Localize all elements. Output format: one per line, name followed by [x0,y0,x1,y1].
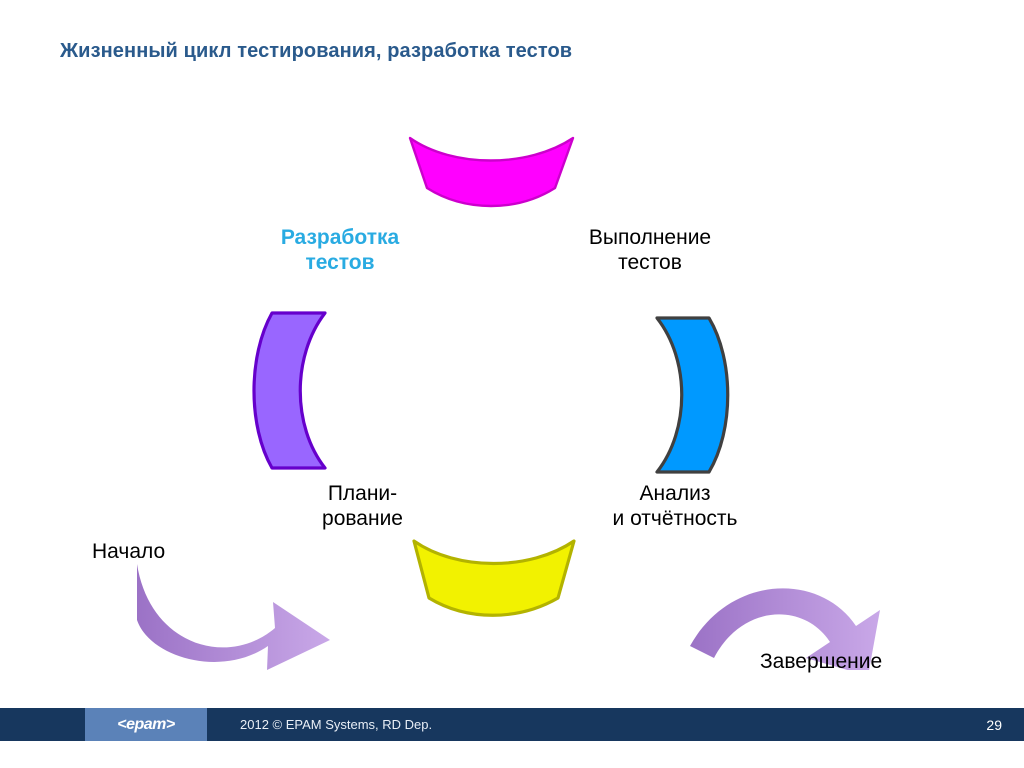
cycle-label-start: Начало [60,540,250,565]
slide-footer: <epam> 2012 © EPAM Systems, RD Dep. 29 [0,700,1024,768]
cycle-diagram-graphics [0,90,1024,670]
cycle-segment-analysis-shape [657,318,728,472]
cycle-segment-test-design-shape [254,313,325,468]
cycle-label-analysis-reporting: Анализ и отчётность [575,482,775,531]
cycle-segment-planning-shape [414,541,574,615]
footer-copyright: 2012 © EPAM Systems, RD Dep. [240,708,432,741]
cycle-label-planning: Плани- рование [270,482,455,531]
start-arrow-shape [137,564,330,670]
page-number: 29 [986,708,1002,741]
cycle-label-test-design: Разработка тестов [240,226,440,275]
cycle-label-finish: Завершение [760,650,990,675]
cycle-label-test-execution: Выполнение тестов [545,226,755,275]
epam-logo-text: <epam> [117,716,174,734]
slide-canvas: Жизненный цикл тестирования, разработка … [0,0,1024,768]
page-title: Жизненный цикл тестирования, разработка … [60,40,960,63]
cycle-diagram: Разработка тестов Выполнение тестов Анал… [0,90,1024,670]
cycle-segment-test-execution-shape [410,138,573,206]
epam-logo: <epam> [85,708,207,741]
